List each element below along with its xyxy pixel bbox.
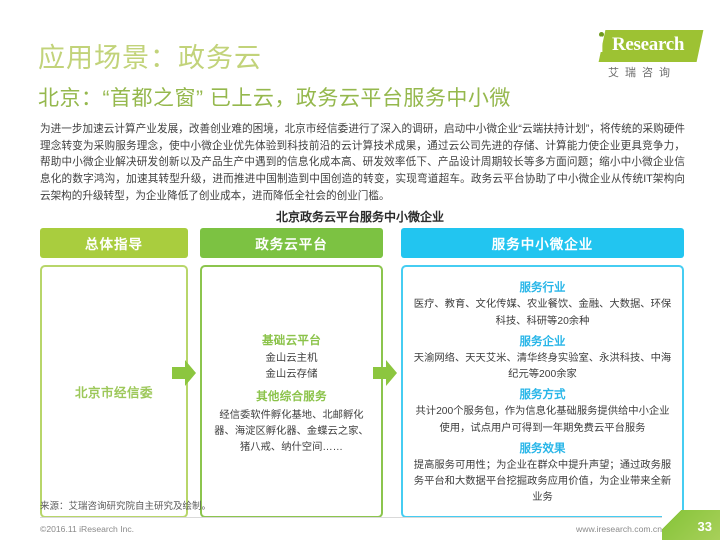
logo-wordmark: Research [612, 34, 684, 56]
source-note: 来源：艾瑞咨询研究院自主研究及绘制。 [40, 498, 211, 512]
group-text-service-mode: 共计200个服务包，作为信息化基础服务提供给中小企业使用，试点用户可得到一年期免… [412, 404, 673, 437]
page-title: 应用场景：政务云 [38, 36, 262, 75]
group-heading-other-services: 其他综合服务 [256, 388, 327, 404]
logo-chinese-name: 艾瑞咨询 [608, 64, 676, 80]
column-header-serving-smes: 服务中小微企业 [401, 228, 684, 258]
diagram-column-serving-smes: 服务中小微企业 服务行业 医疗、教育、文化传媒、农业餐饮、金融、大数据、环保科技… [401, 228, 684, 518]
logo-i-letter: i [598, 35, 604, 56]
column-2-content: 基础云平台 金山云主机 金山云存储 其他综合服务 经信委软件孵化基地、北邮孵化器… [202, 267, 381, 516]
group-heading-service-mode: 服务方式 [412, 386, 673, 402]
arrow-right-icon-2 [373, 358, 397, 388]
arrow-right-icon-1 [172, 358, 196, 388]
footer-divider [40, 517, 685, 518]
body-paragraph: 为进一步加速云计算产业发展，改善创业难的困境，北京市经信委进行了深入的调研，启动… [40, 121, 685, 205]
group-line-kingsoft-host: 金山云主机 [266, 351, 318, 367]
footer-page-number: 33 [698, 519, 712, 534]
column-header-gov-cloud-platform: 政务云平台 [200, 228, 383, 258]
group-text-service-enterprises: 天渝网络、天天艾米、清华终身实验室、永洪科技、中海纪元等200余家 [412, 351, 673, 384]
group-heading-service-enterprises: 服务企业 [412, 333, 673, 349]
page-subtitle: 北京：“首都之窗” 已上云，政务云平台服务中小微 [38, 82, 511, 112]
diagram-column-gov-cloud-platform: 政务云平台 基础云平台 金山云主机 金山云存储 其他综合服务 经信委软件孵化基地… [200, 228, 383, 518]
slide-page: 应用场景：政务云 北京：“首都之窗” 已上云，政务云平台服务中小微 i Rese… [0, 0, 720, 540]
group-heading-basic-cloud-platform: 基础云平台 [262, 332, 321, 348]
column-header-overall-guidance: 总体指导 [40, 228, 188, 258]
footer-website: www.iresearch.com.cn [576, 524, 662, 534]
footer-copyright: ©2016.11 iResearch Inc. [40, 524, 134, 534]
group-text-service-effect: 提高服务可用性；为企业在群众中提升声望；通过政务服务平台和大数据平台挖掘政务应用… [412, 458, 673, 507]
group-heading-service-industries: 服务行业 [412, 279, 673, 295]
group-line-kingsoft-storage: 金山云存储 [266, 367, 318, 383]
column-3-content: 服务行业 医疗、教育、文化传媒、农业餐饮、金融、大数据、环保科技、科研等20余种… [403, 267, 682, 516]
diagram-column-overall-guidance: 总体指导 北京市经信委 [40, 228, 188, 518]
entity-label-beijing-commission: 北京市经信委 [75, 382, 153, 401]
group-heading-service-effect: 服务效果 [412, 440, 673, 456]
column-body-overall-guidance: 北京市经信委 [40, 265, 188, 518]
group-text-other-services: 经信委软件孵化基地、北邮孵化器、海淀区孵化器、金蝶云之家、猪八戒、纳什空间…… [211, 408, 372, 456]
iresearch-logo: i Research 艾瑞咨询 [582, 30, 702, 82]
group-text-service-industries: 医疗、教育、文化传媒、农业餐饮、金融、大数据、环保科技、科研等20余种 [412, 297, 673, 330]
column-1-content: 北京市经信委 [42, 267, 186, 516]
column-body-gov-cloud-platform: 基础云平台 金山云主机 金山云存储 其他综合服务 经信委软件孵化基地、北邮孵化器… [200, 265, 383, 518]
column-body-serving-smes: 服务行业 医疗、教育、文化传媒、农业餐饮、金融、大数据、环保科技、科研等20余种… [401, 265, 684, 518]
diagram-title: 北京政务云平台服务中小微企业 [0, 208, 720, 225]
